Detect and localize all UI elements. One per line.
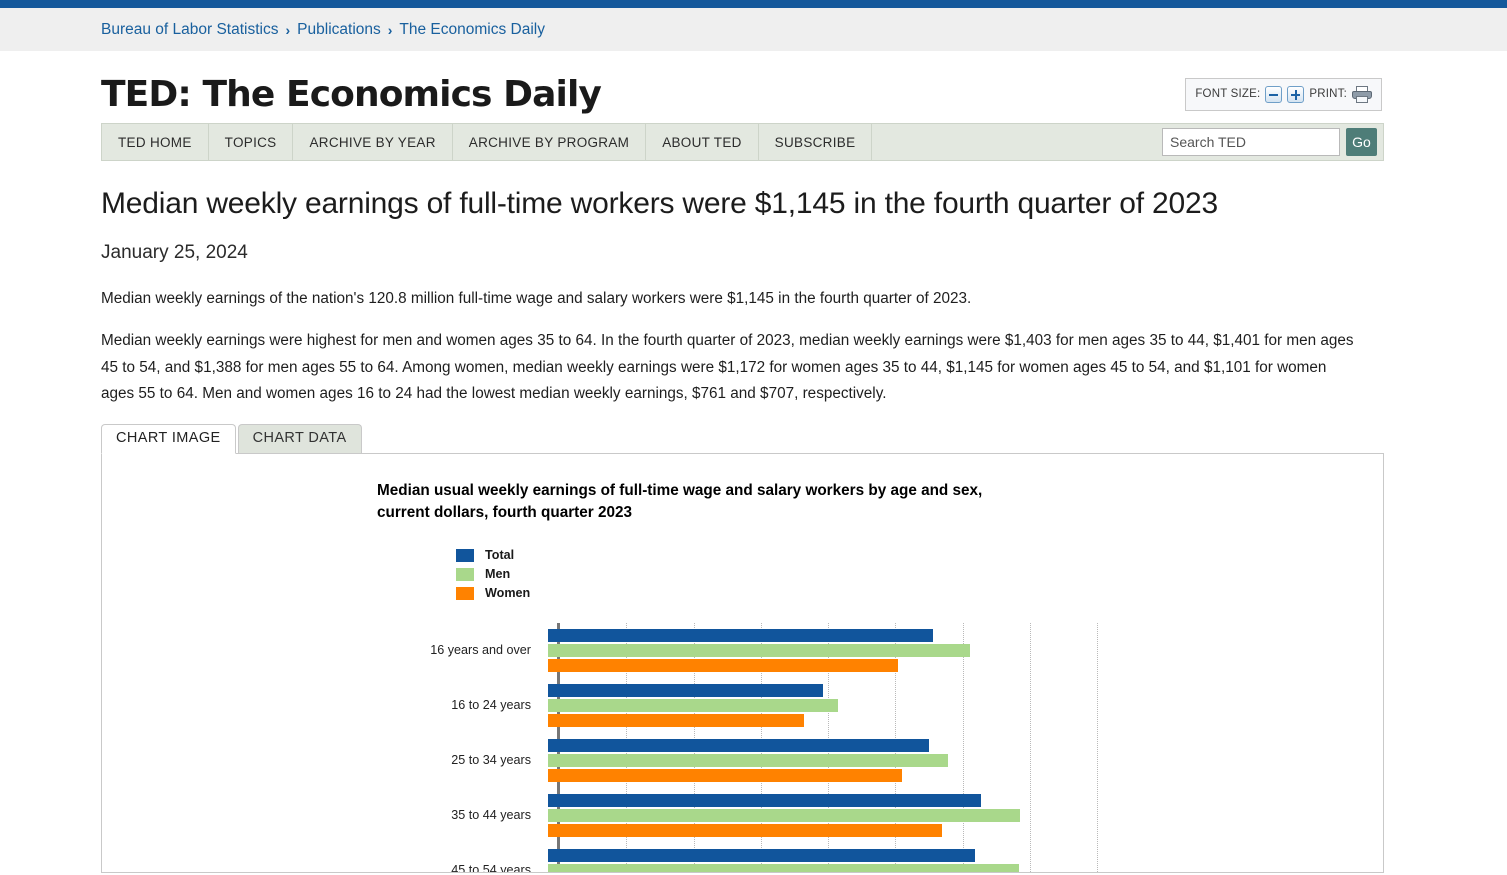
nav-item-archive-by-program[interactable]: ARCHIVE BY PROGRAM [453, 124, 646, 160]
legend-item-women: Women [456, 584, 1097, 603]
chart-bar-total [548, 739, 929, 752]
chart: Median usual weekly earnings of full-tim… [377, 480, 1097, 873]
legend-label-men: Men [485, 567, 510, 581]
chart-category-group: 35 to 44 years [377, 788, 1097, 843]
chart-legend: Total Men Women [456, 546, 1097, 603]
chart-category-label: 45 to 54 years [377, 863, 545, 873]
chart-bar-total [548, 794, 981, 807]
legend-item-total: Total [456, 546, 1097, 565]
site-logo-title: TED: The Economics Daily [101, 74, 601, 115]
legend-item-men: Men [456, 565, 1097, 584]
nav-item-about-ted[interactable]: ABOUT TED [646, 124, 758, 160]
font-size-label: FONT SIZE: [1195, 88, 1260, 100]
nav-item-subscribe[interactable]: SUBSCRIBE [759, 124, 873, 160]
chart-bar-men [548, 644, 970, 657]
chart-category-group: 16 to 24 years [377, 678, 1097, 733]
nav-item-archive-by-year[interactable]: ARCHIVE BY YEAR [293, 124, 452, 160]
breadcrumb-item-bls[interactable]: Bureau of Labor Statistics [101, 21, 279, 39]
print-label: PRINT: [1309, 88, 1347, 100]
breadcrumb-item-publications[interactable]: Publications [297, 21, 381, 39]
chart-category-label: 35 to 44 years [377, 808, 545, 822]
chart-category-group: 45 to 54 years [377, 843, 1097, 873]
nav-item-topics[interactable]: TOPICS [209, 124, 294, 160]
chart-bar-men [548, 754, 948, 767]
chart-bar-total [548, 849, 975, 862]
tab-chart-data[interactable]: CHART DATA [238, 424, 362, 453]
chart-tabs: CHART IMAGE CHART DATA [101, 424, 1384, 453]
breadcrumb-separator-icon: › [388, 22, 393, 38]
top-accent-bar [0, 0, 1507, 8]
chart-plot-area: 16 years and over16 to 24 years25 to 34 … [377, 623, 1097, 873]
breadcrumb: Bureau of Labor Statistics › Publication… [0, 8, 1507, 51]
breadcrumb-item-economics-daily[interactable]: The Economics Daily [399, 21, 545, 39]
chart-category-group: 25 to 34 years [377, 733, 1097, 788]
chart-bars [545, 794, 1097, 837]
chart-bar-total [548, 684, 823, 697]
masthead: TED: The Economics Daily FONT SIZE: PRIN… [101, 51, 1384, 123]
chart-title: Median usual weekly earnings of full-tim… [377, 480, 1037, 524]
printer-icon[interactable] [1352, 86, 1372, 103]
chart-category-label: 16 to 24 years [377, 698, 545, 712]
publication-date: January 25, 2024 [101, 242, 1384, 264]
breadcrumb-separator-icon: › [286, 22, 291, 38]
article-paragraph-2: Median weekly earnings were highest for … [101, 328, 1359, 408]
nav-items: TED HOME TOPICS ARCHIVE BY YEAR ARCHIVE … [102, 124, 872, 160]
article-paragraph-1: Median weekly earnings of the nation's 1… [101, 286, 1359, 313]
chart-bar-men [548, 864, 1019, 873]
chart-category-label: 16 years and over [377, 643, 545, 657]
search-input[interactable] [1162, 128, 1340, 156]
chart-bar-women [548, 714, 804, 727]
legend-label-women: Women [485, 586, 530, 600]
chart-bar-women [548, 769, 902, 782]
gridline [1097, 623, 1098, 873]
chart-bars [545, 849, 1097, 873]
font-increase-icon[interactable] [1287, 86, 1304, 103]
chart-bars [545, 739, 1097, 782]
main-navigation: TED HOME TOPICS ARCHIVE BY YEAR ARCHIVE … [101, 123, 1384, 161]
chart-bar-total [548, 629, 933, 642]
chart-bar-men [548, 809, 1020, 822]
article: Median weekly earnings of full-time work… [101, 161, 1384, 873]
chart-bars [545, 684, 1097, 727]
tab-chart-image[interactable]: CHART IMAGE [101, 424, 236, 454]
legend-swatch-women [456, 587, 474, 600]
page-title: Median weekly earnings of full-time work… [101, 187, 1384, 222]
page-container: TED: The Economics Daily FONT SIZE: PRIN… [101, 51, 1384, 873]
chart-bar-groups: 16 years and over16 to 24 years25 to 34 … [377, 623, 1097, 873]
font-decrease-icon[interactable] [1265, 86, 1282, 103]
chart-bar-women [548, 659, 898, 672]
legend-label-total: Total [485, 548, 514, 562]
search-go-button[interactable]: Go [1346, 128, 1377, 156]
chart-category-label: 25 to 34 years [377, 753, 545, 767]
chart-panel: Median usual weekly earnings of full-tim… [101, 453, 1384, 873]
font-print-controls: FONT SIZE: PRINT: [1185, 78, 1382, 111]
chart-bars [545, 629, 1097, 672]
search-area: Go [1162, 124, 1383, 160]
chart-category-group: 16 years and over [377, 623, 1097, 678]
legend-swatch-total [456, 549, 474, 562]
chart-bar-men [548, 699, 838, 712]
nav-item-ted-home[interactable]: TED HOME [102, 124, 209, 160]
chart-bar-women [548, 824, 942, 837]
legend-swatch-men [456, 568, 474, 581]
